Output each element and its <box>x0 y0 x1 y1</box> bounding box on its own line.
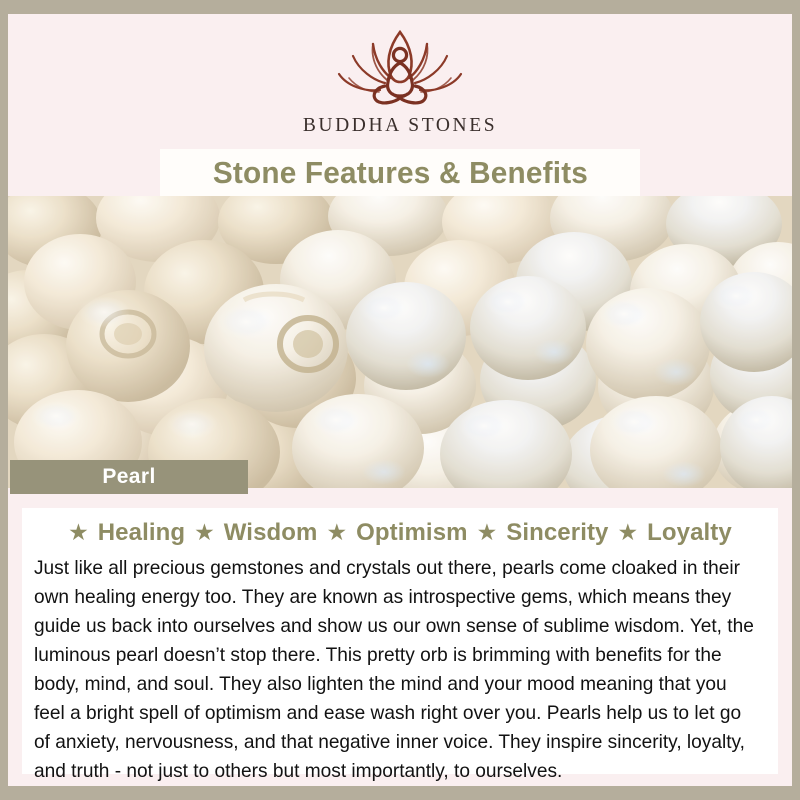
title-banner: Stone Features & Benefits <box>160 149 640 196</box>
star-icon: ★ <box>68 521 89 544</box>
description-panel: ★ Healing ★ Wisdom ★ Optimism ★ Sincerit… <box>22 508 778 774</box>
brand-logo: BUDDHA STONES <box>8 22 792 137</box>
keyword-wisdom: Wisdom <box>224 519 318 547</box>
keyword-list: ★ Healing ★ Wisdom ★ Optimism ★ Sincerit… <box>34 516 766 550</box>
pearl-photo <box>8 196 792 488</box>
page-title: Stone Features & Benefits <box>212 155 587 191</box>
keyword-sincerity: Sincerity <box>506 519 608 547</box>
stone-name-label: Pearl <box>102 465 155 489</box>
lotus-meditation-icon <box>325 22 475 112</box>
pearl-photo-image <box>8 196 792 488</box>
header: BUDDHA STONES Stone Features & Benefits <box>8 14 792 196</box>
star-icon: ★ <box>194 521 215 544</box>
keyword-healing: Healing <box>98 519 185 547</box>
star-icon: ★ <box>618 521 639 544</box>
poster-frame: BUDDHA STONES Stone Features & Benefits <box>0 0 800 800</box>
brand-name: BUDDHA STONES <box>8 115 792 137</box>
stone-name-tab: Pearl <box>10 460 248 494</box>
keyword-loyalty: Loyalty <box>647 519 732 547</box>
description-text: Just like all precious gemstones and cry… <box>34 554 755 786</box>
info-card: BUDDHA STONES Stone Features & Benefits <box>8 14 792 786</box>
keyword-optimism: Optimism <box>356 519 467 547</box>
star-icon: ★ <box>477 521 498 544</box>
star-icon: ★ <box>326 521 347 544</box>
